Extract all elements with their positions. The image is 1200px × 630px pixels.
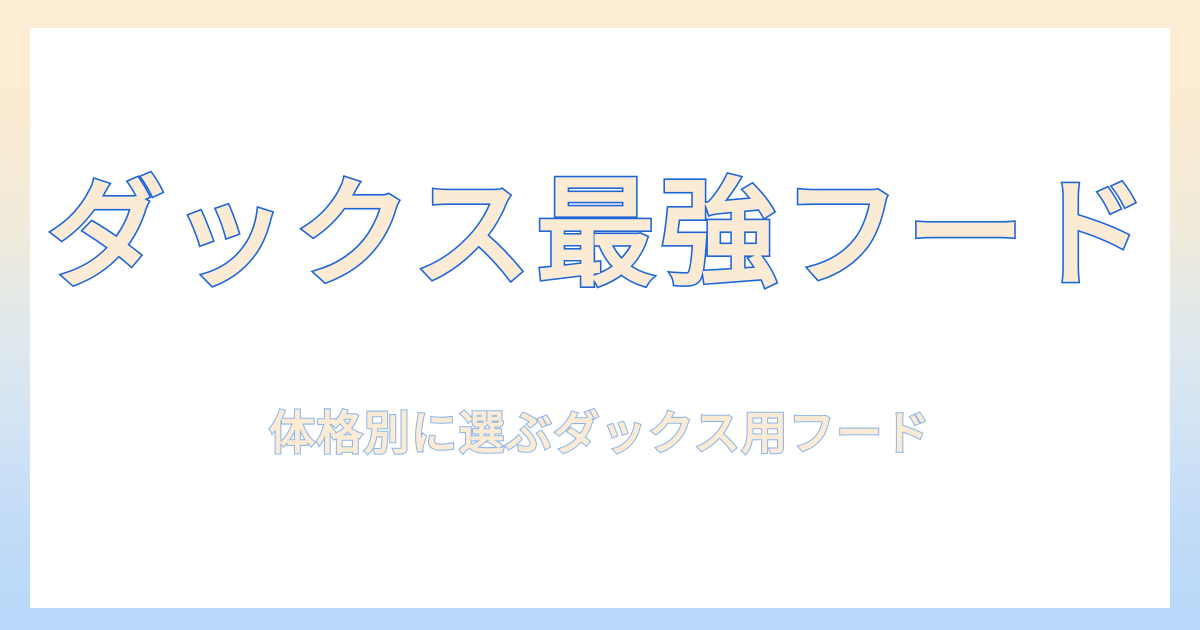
title-block: ダックス最強フード <box>30 168 1170 300</box>
page-title: ダックス最強フード <box>30 168 1170 300</box>
eyecatch-banner: ダックス最強フード 体格別に選ぶダックス用フード <box>0 0 1200 630</box>
page-subtitle: 体格別に選ぶダックス用フード <box>30 406 1170 461</box>
subtitle-block: 体格別に選ぶダックス用フード <box>30 406 1170 461</box>
content-card: ダックス最強フード 体格別に選ぶダックス用フード <box>30 28 1170 608</box>
